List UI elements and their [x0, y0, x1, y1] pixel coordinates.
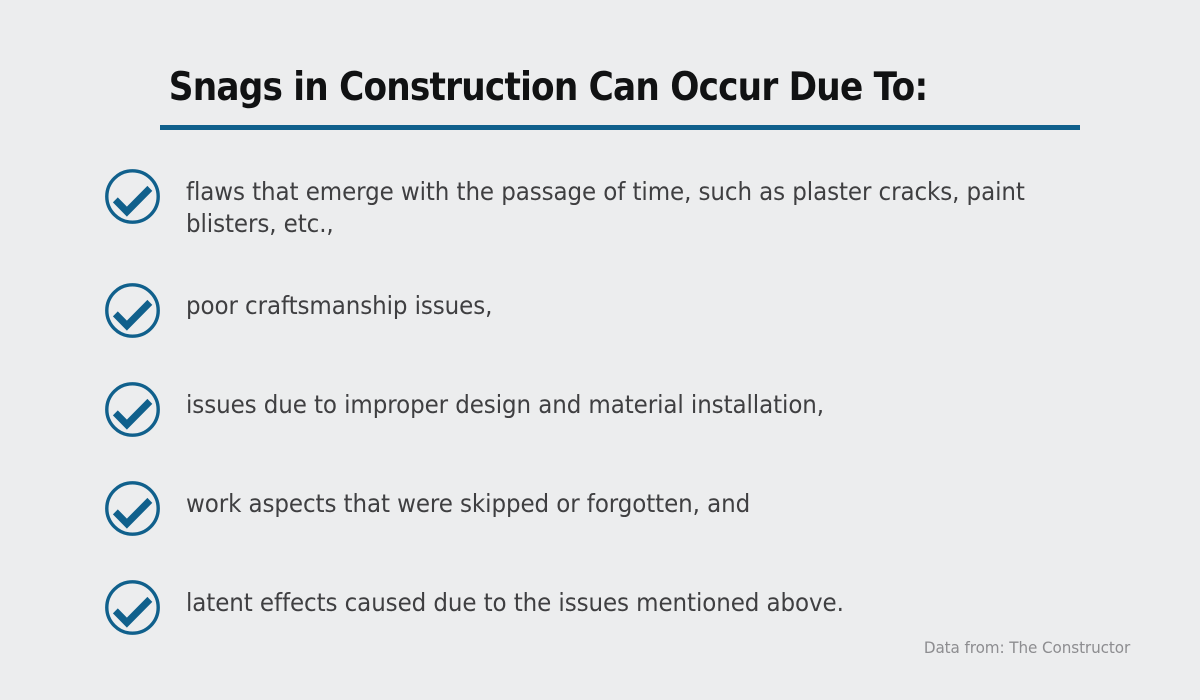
- causes-list: flaws that emerge with the passage of ti…: [104, 168, 1144, 678]
- list-item-label: latent effects caused due to the issues …: [186, 579, 1067, 619]
- list-item-label: issues due to improper design and materi…: [186, 381, 1067, 421]
- list-item: poor craftsmanship issues,: [104, 282, 1144, 339]
- check-circle-icon: [104, 381, 161, 438]
- list-item: issues due to improper design and materi…: [104, 381, 1144, 438]
- list-item: flaws that emerge with the passage of ti…: [104, 168, 1144, 240]
- check-circle-icon: [104, 480, 161, 537]
- data-source-attribution: Data from: The Constructor: [924, 638, 1130, 657]
- check-circle-icon: [104, 282, 161, 339]
- infographic-root: Snags in Construction Can Occur Due To: …: [0, 0, 1200, 700]
- page-title: Snags in Construction Can Occur Due To:: [160, 66, 970, 110]
- check-circle-icon: [104, 168, 161, 225]
- title-underline-rule: [160, 125, 1080, 130]
- list-item-label: flaws that emerge with the passage of ti…: [186, 168, 1067, 240]
- list-item-label: poor craftsmanship issues,: [186, 282, 1067, 322]
- list-item: work aspects that were skipped or forgot…: [104, 480, 1144, 537]
- list-item: latent effects caused due to the issues …: [104, 579, 1144, 636]
- list-item-label: work aspects that were skipped or forgot…: [186, 480, 1067, 520]
- header: Snags in Construction Can Occur Due To:: [160, 66, 1080, 130]
- check-circle-icon: [104, 579, 161, 636]
